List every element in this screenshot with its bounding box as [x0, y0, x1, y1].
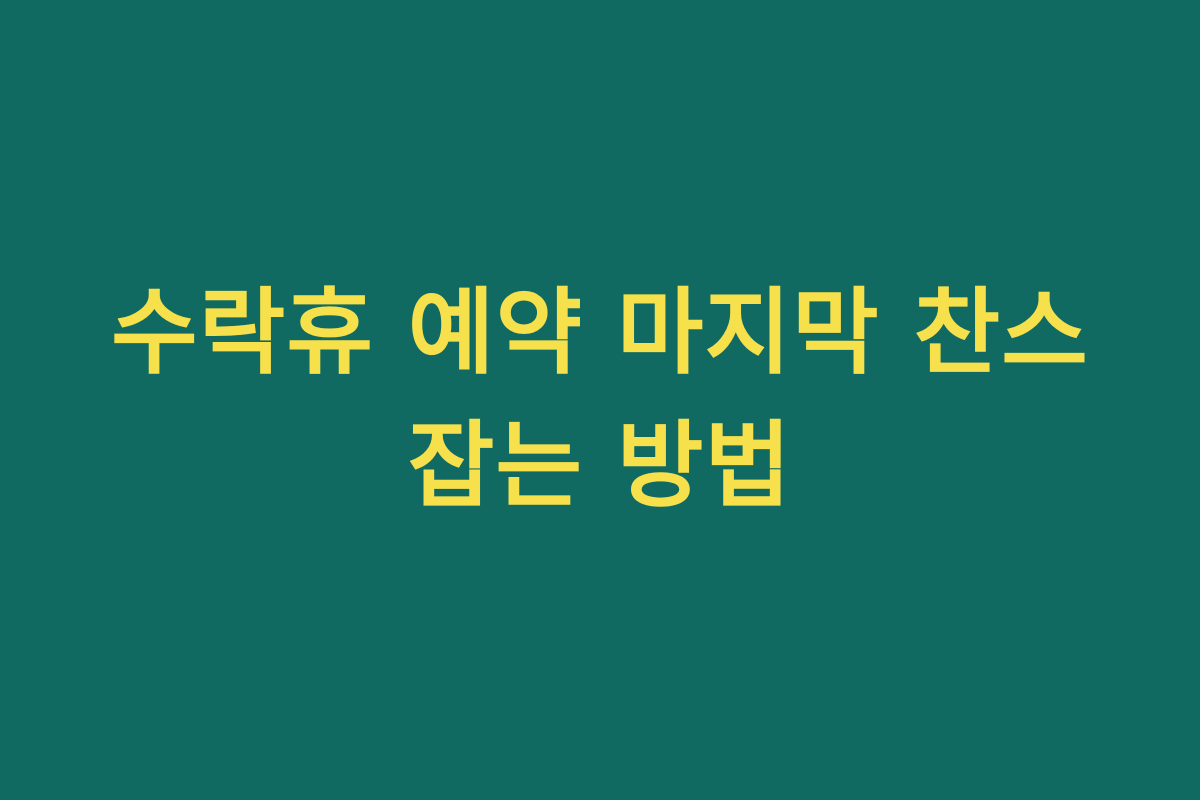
title-card: 수락휴 예약 마지막 찬스 잡는 방법 — [0, 0, 1200, 800]
headline-text: 수락휴 예약 마지막 찬스 잡는 방법 — [0, 267, 1200, 534]
